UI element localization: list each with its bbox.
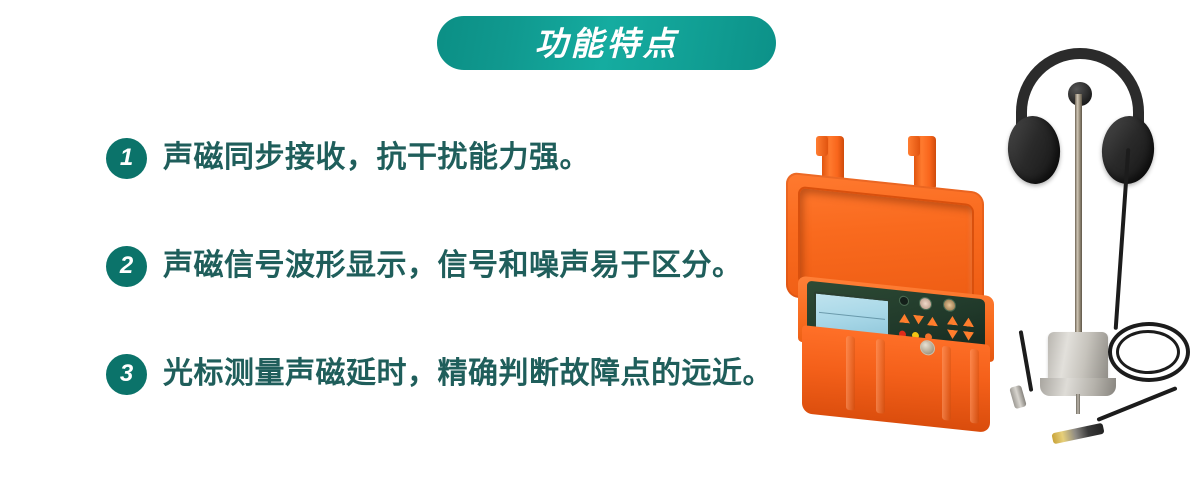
xlr-connector-icon [1009, 385, 1027, 409]
case-rib [846, 336, 855, 411]
probe-spike [1076, 394, 1080, 414]
panel-nav-right-button[interactable] [963, 331, 974, 341]
list-item: 3 光标测量声磁延时，精确判断故障点的远近。 [106, 344, 806, 404]
probe-port-icon [899, 295, 909, 306]
feature-text: 声磁同步接收，抗干扰能力强。 [163, 140, 590, 176]
list-item: 2 声磁信号波形显示，信号和噪声易于区分。 [106, 236, 806, 296]
panel-arrow-up-button[interactable] [899, 313, 910, 323]
panel-nav-down-button[interactable] [947, 329, 958, 339]
page-title: 功能特点 [535, 27, 679, 60]
list-item: 1 声磁同步接收，抗干扰能力强。 [106, 128, 806, 188]
feature-text: 光标测量声磁延时，精确判断故障点的远近。 [163, 356, 773, 392]
case-lock-icon [920, 340, 935, 357]
coiled-cable-inner [1116, 330, 1180, 374]
probe-rod [1075, 94, 1082, 346]
feature-number-badge: 1 [106, 138, 147, 179]
product-photo [760, 30, 1200, 487]
panel-arrow-down-button[interactable] [913, 315, 924, 325]
instrument-case [778, 130, 1008, 430]
lid-latch-right-icon [914, 136, 936, 188]
headphone-port-icon [919, 296, 932, 310]
power-port-icon [943, 298, 956, 312]
panel-arrow-up2-button[interactable] [927, 316, 938, 326]
feature-list: 1 声磁同步接收，抗干扰能力强。 2 声磁信号波形显示，信号和噪声易于区分。 3… [106, 128, 806, 452]
feature-number-badge: 2 [106, 246, 147, 287]
panel-nav-up-button[interactable] [947, 315, 958, 325]
feature-text: 声磁信号波形显示，信号和噪声易于区分。 [163, 248, 743, 284]
probe-cable-left [1019, 330, 1034, 392]
section-header-banner: 功能特点 [437, 16, 776, 70]
audio-jack-icon [1051, 423, 1104, 445]
case-rib [876, 339, 885, 414]
case-body [802, 325, 990, 433]
feature-number-badge: 3 [106, 354, 147, 395]
panel-nav-left-button[interactable] [963, 317, 974, 327]
case-rib [970, 349, 979, 424]
headphone-and-probe-assembly [990, 30, 1200, 480]
case-rib [942, 346, 951, 421]
